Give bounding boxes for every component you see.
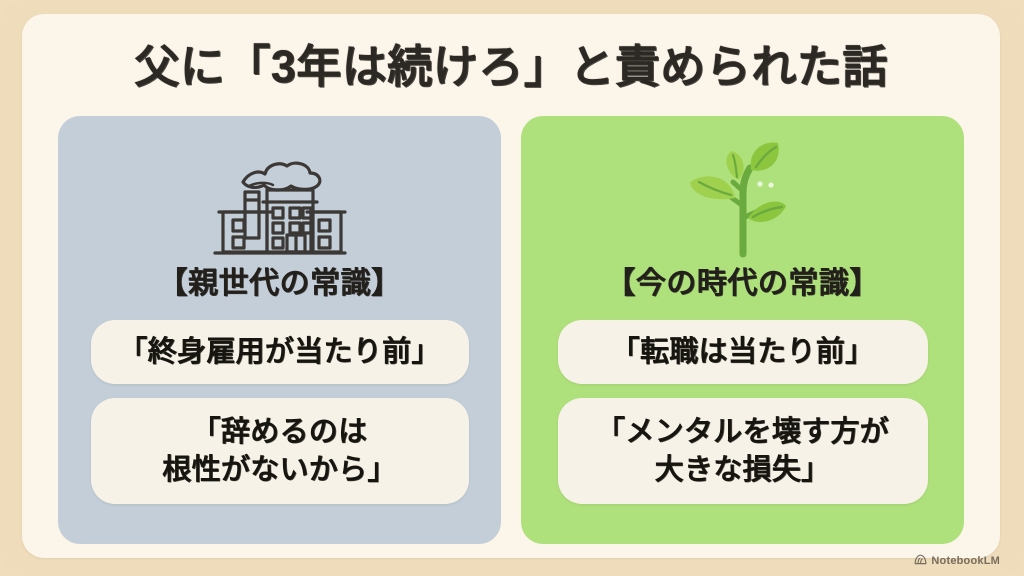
factory-icon <box>205 138 355 260</box>
list-item: 「終身雇用が当たり前」 <box>91 320 469 384</box>
pill-list: 「転職は当たり前」 「メンタルを壊す方が 大きな損失」 <box>521 320 964 504</box>
pill-line: 大きな損失」 <box>655 451 831 489</box>
pill-line: 「転職は当たり前」 <box>611 335 875 369</box>
list-item: 「転職は当たり前」 <box>558 320 928 384</box>
notebooklm-watermark: NotebookLM <box>914 552 1000 570</box>
panel-heading: 【今の時代の常識】 <box>605 264 880 304</box>
panel-heading: 【親世代の常識】 <box>158 264 402 304</box>
pill-line: 根性がないから」 <box>162 451 396 489</box>
page-title: 父に「3年は続けろ」と責められた話 <box>22 38 1000 96</box>
slide-card: 父に「3年は続けろ」と責められた話 <box>22 14 1000 558</box>
pill-list: 「終身雇用が当たり前」 「辞めるのは 根性がないから」 <box>58 320 501 504</box>
watermark-label: NotebookLM <box>931 555 1000 567</box>
notebooklm-logo-icon <box>914 552 927 570</box>
slide-root: 父に「3年は続けろ」と責められた話 <box>0 0 1024 576</box>
list-item: 「メンタルを壊す方が 大きな損失」 <box>558 398 928 504</box>
pill-line: 「辞めるのは <box>192 413 368 451</box>
pill-line: 「終身雇用が当たり前」 <box>118 335 440 369</box>
comparison-panels: 【親世代の常識】 「終身雇用が当たり前」 「辞めるのは 根性がないから」 <box>58 116 964 544</box>
panel-parent-generation: 【親世代の常識】 「終身雇用が当たり前」 「辞めるのは 根性がないから」 <box>58 116 501 544</box>
pill-line: 「メンタルを壊す方が <box>596 413 889 451</box>
sprout-icon <box>678 138 808 260</box>
panel-current-era: 【今の時代の常識】 「転職は当たり前」 「メンタルを壊す方が 大きな損失」 <box>521 116 964 544</box>
list-item: 「辞めるのは 根性がないから」 <box>91 398 469 504</box>
